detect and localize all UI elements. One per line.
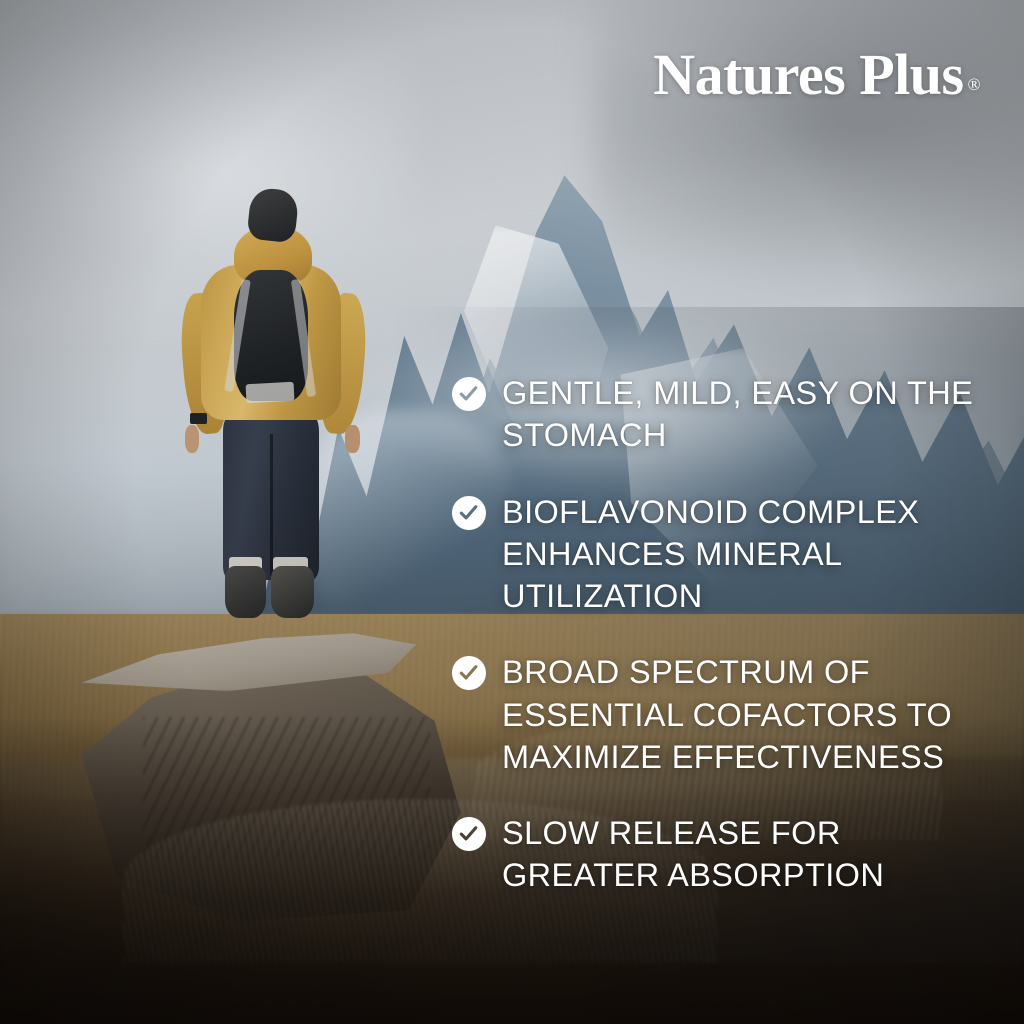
registered-trademark-symbol: ® (968, 76, 980, 93)
benefit-text: BROAD SPECTRUM OF ESSENTIAL COFACTORS TO… (502, 651, 990, 778)
benefit-text: SLOW RELEASE FOR GREATER ABSORPTION (502, 812, 990, 897)
benefit-text: GENTLE, MILD, EASY ON THE STOMACH (502, 372, 990, 457)
check-circle-icon (452, 496, 486, 530)
check-circle-icon (452, 656, 486, 690)
list-item: GENTLE, MILD, EASY ON THE STOMACH (452, 372, 990, 457)
list-item: BROAD SPECTRUM OF ESSENTIAL COFACTORS TO… (452, 651, 990, 778)
list-item: BIOFLAVONOID COMPLEX ENHANCES MINERAL UT… (452, 491, 990, 618)
benefits-list: GENTLE, MILD, EASY ON THE STOMACH BIOFLA… (452, 372, 990, 897)
overlay-content: Natures Plus ® GENTLE, MILD, EASY ON THE… (0, 0, 1024, 1024)
check-circle-icon (452, 377, 486, 411)
check-circle-icon (452, 817, 486, 851)
product-benefits-banner: Natures Plus ® GENTLE, MILD, EASY ON THE… (0, 0, 1024, 1024)
brand-name: Natures Plus (653, 46, 963, 104)
brand-logo: Natures Plus ® (653, 46, 980, 104)
list-item: SLOW RELEASE FOR GREATER ABSORPTION (452, 812, 990, 897)
benefit-text: BIOFLAVONOID COMPLEX ENHANCES MINERAL UT… (502, 491, 990, 618)
